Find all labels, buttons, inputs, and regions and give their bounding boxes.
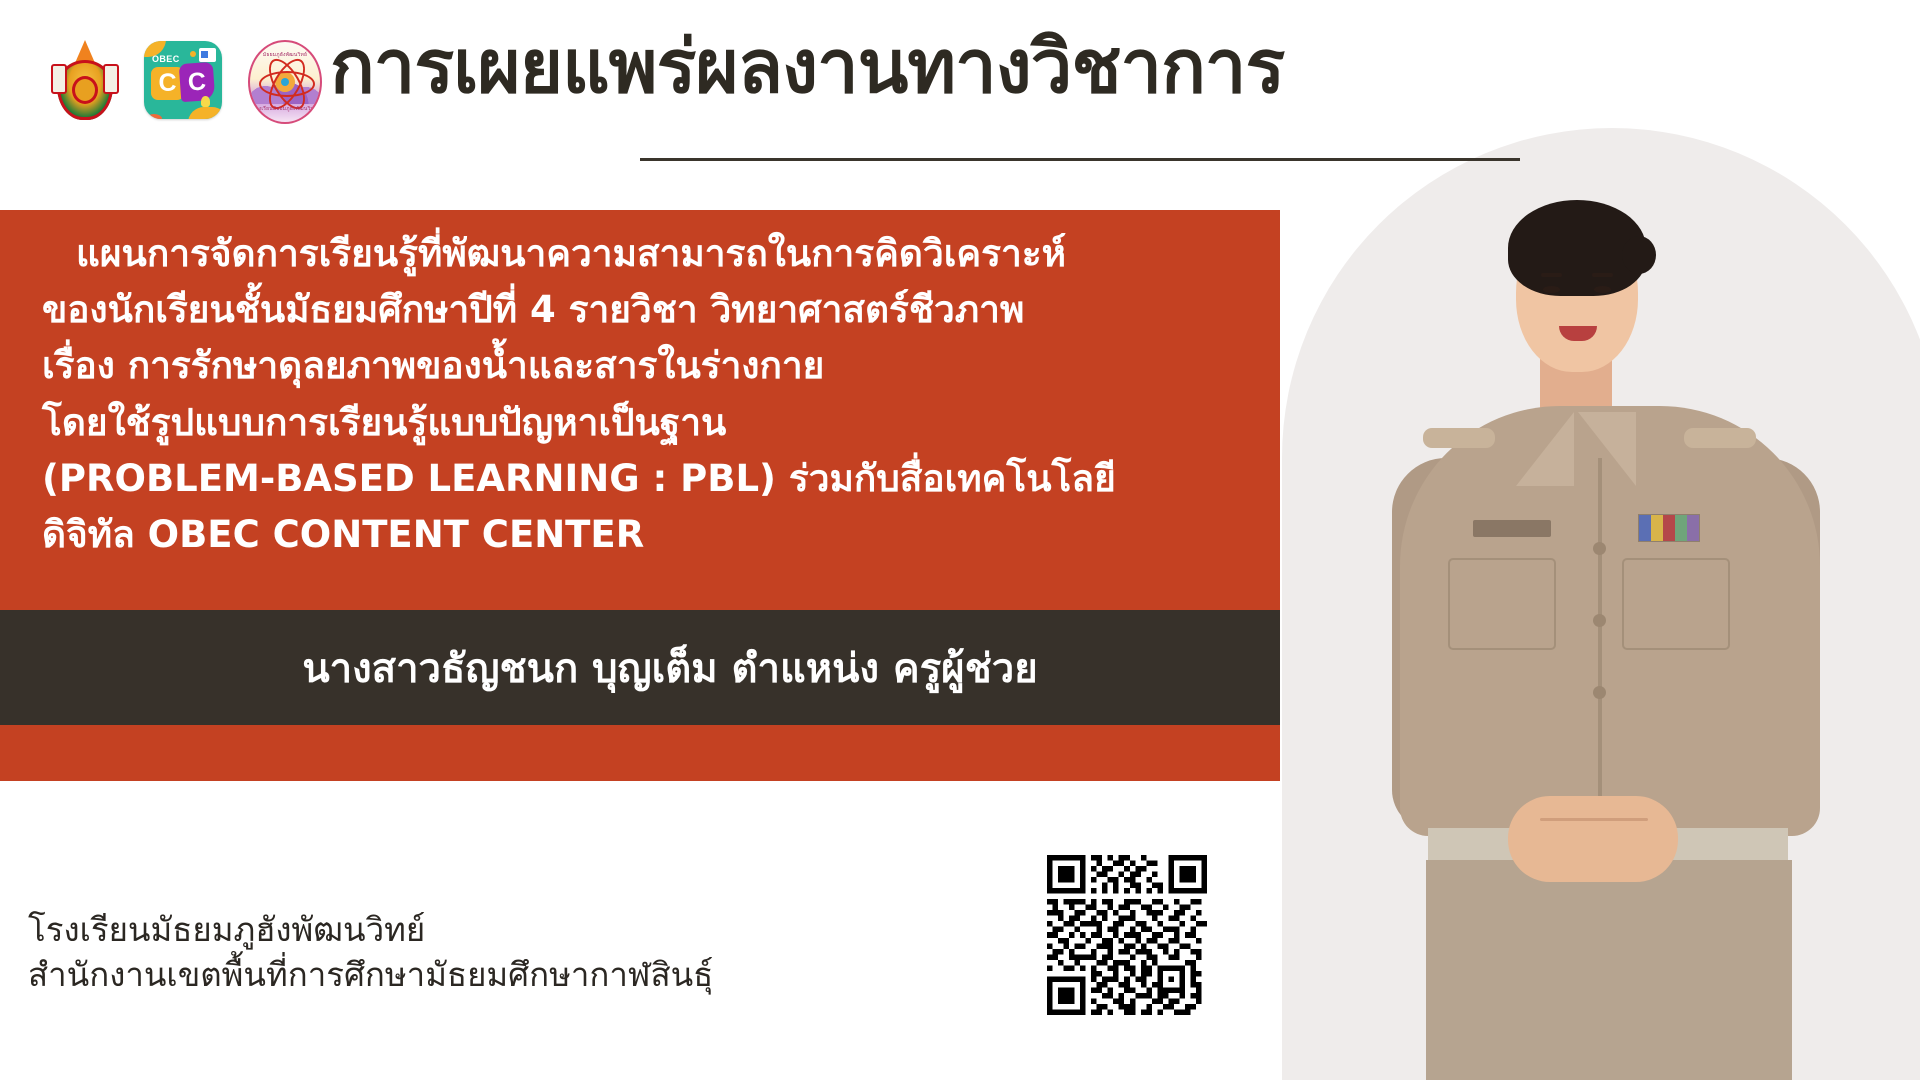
emblem-center [72,76,98,104]
figure-eye-right [1594,286,1611,293]
emblem-top-caption: มัธยมภูฮังพัฒนวิทย์ [250,51,320,59]
work-title-line: ของนักเรียนชั้นมัธยมศึกษาปีที่ 4 รายวิชา… [42,282,1246,338]
logo-dot [190,51,196,57]
figure-name-tag [1473,520,1551,537]
qr-code[interactable] [1047,855,1207,1015]
author-name: นางสาวธัญชนก บุญเต็ม ตำแหน่ง ครูผู้ช่วย [242,636,1037,700]
header-divider [640,158,1520,161]
obec-label: OBEC [152,54,180,64]
lightbulb-icon [201,96,210,107]
figure-hands [1508,796,1678,882]
logo-blob-bottom-left [146,114,162,119]
figure-pocket-left [1448,558,1556,650]
work-title-line: เรื่อง การรักษาดุลยภาพของน้ำและสารในร่าง… [42,338,1246,394]
ministry-of-education-emblem-icon [48,38,122,122]
emblem-wing-left [51,64,67,94]
obec-content-center-logo-icon: OBEC C C [144,41,222,119]
figure-button [1593,686,1606,699]
school-info: โรงเรียนมัธยมภูฮังพัฒนวิทย์ สำนักงานเขตพ… [28,908,713,998]
emblem-oval: มัธยมภูฮังพัฒนวิทย์ โรงเรียนมัธยมภูฮังพั… [248,40,322,124]
author-bar: นางสาวธัญชนก บุญเต็ม ตำแหน่ง ครูผู้ช่วย [0,610,1280,725]
figure-epaulet-left [1423,428,1495,448]
figure-eyebrow-right [1592,273,1613,277]
teacher-photo [1240,128,1920,1080]
figure-collar-right [1578,412,1636,486]
emblem-wing-right [103,64,119,94]
figure-ribbon-bar [1638,514,1700,542]
emblem-bottom-caption: โรงเรียนมัธยมภูฮังพัฒนวิทย์ [250,105,320,113]
figure-button [1593,542,1606,555]
figure-placket [1598,458,1602,818]
logo-blob-bottom-right [188,107,222,119]
page-title: การเผยแพร่ผลงานทางวิชาการ [330,24,1284,111]
figure-button [1593,614,1606,627]
work-title-line: (PROBLEM-BASED LEARNING : PBL) ร่วมกับสื… [42,451,1246,507]
logo-row: OBEC C C มัธยมภูฮังพัฒนวิทย์ โรงเรียนมัธ… [48,38,322,122]
orange-accent-strip [0,725,1280,781]
poster-header: OBEC C C มัธยมภูฮังพัฒนวิทย์ โรงเรียนมัธ… [0,0,1920,196]
work-title-line: แผนการจัดการเรียนรู้ที่พัฒนาความสามารถใน… [42,226,1246,282]
figure-eye-left [1543,286,1560,293]
figure-collar-left [1516,412,1574,486]
work-title-block: แผนการจัดการเรียนรู้ที่พัฒนาความสามารถใน… [0,210,1280,610]
figure-skirt [1426,860,1792,1080]
work-title-line: โดยใช้รูปแบบการเรียนรู้แบบปัญหาเป็นฐาน [42,395,1246,451]
school-name: โรงเรียนมัธยมภูฮังพัฒนวิทย์ [28,908,713,953]
teacher-figure [1240,128,1920,1080]
figure-hair-bun [1622,236,1656,274]
area-office-name: สำนักงานเขตพื้นที่การศึกษามัธยมศึกษากาฬส… [28,953,713,998]
work-title-line: ดิจิทัล OBEC CONTENT CENTER [42,507,1246,563]
logo-letter-c-purple: C [179,62,216,102]
school-emblem-icon: มัธยมภูฮังพัฒนวิทย์ โรงเรียนมัธยมภูฮังพั… [244,38,322,122]
document-icon [199,48,216,62]
figure-pocket-right [1622,558,1730,650]
figure-hand-detail [1540,818,1648,821]
figure-epaulet-right [1684,428,1756,448]
figure-eyebrow-left [1541,273,1562,277]
emblem-atom-nucleus [281,78,289,86]
poster-canvas: OBEC C C มัธยมภูฮังพัฒนวิทย์ โรงเรียนมัธ… [0,0,1920,1080]
